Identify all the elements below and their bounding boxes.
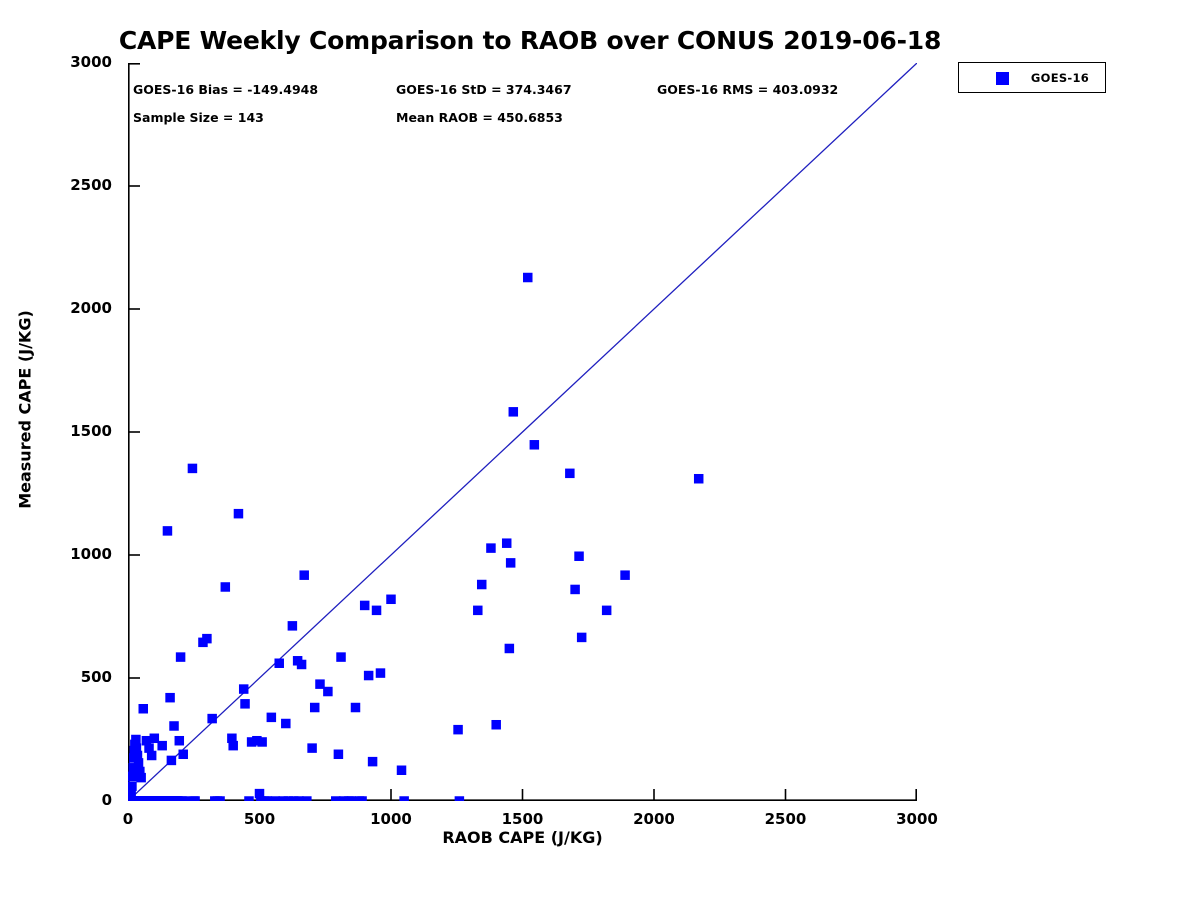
x-tick-label: 2500 (736, 810, 836, 828)
legend-box: GOES-16 (958, 62, 1106, 93)
scatter-markers (128, 273, 703, 801)
x-tick-label: 1500 (473, 810, 573, 828)
y-axis-title: Measured CAPE (J/KG) (16, 210, 35, 610)
x-tick-label: 3000 (867, 810, 967, 828)
legend-label-goes16: GOES-16 (1021, 71, 1099, 85)
x-axis-title: RAOB CAPE (J/KG) (128, 828, 917, 847)
chart-title: CAPE Weekly Comparison to RAOB over CONU… (0, 26, 1060, 55)
y-tick-label: 500 (0, 668, 112, 686)
plot-area (128, 63, 917, 801)
plot-canvas (128, 63, 917, 801)
y-tick-label: 2500 (0, 176, 112, 194)
x-tick-label: 500 (210, 810, 310, 828)
x-tick-label: 1000 (341, 810, 441, 828)
x-tick-label: 2000 (604, 810, 704, 828)
legend-swatch-goes16 (996, 72, 1009, 85)
y-tick-label: 3000 (0, 53, 112, 71)
chart-figure: CAPE Weekly Comparison to RAOB over CONU… (0, 0, 1200, 900)
x-tick-label: 0 (78, 810, 178, 828)
y-tick-label: 0 (0, 791, 112, 809)
